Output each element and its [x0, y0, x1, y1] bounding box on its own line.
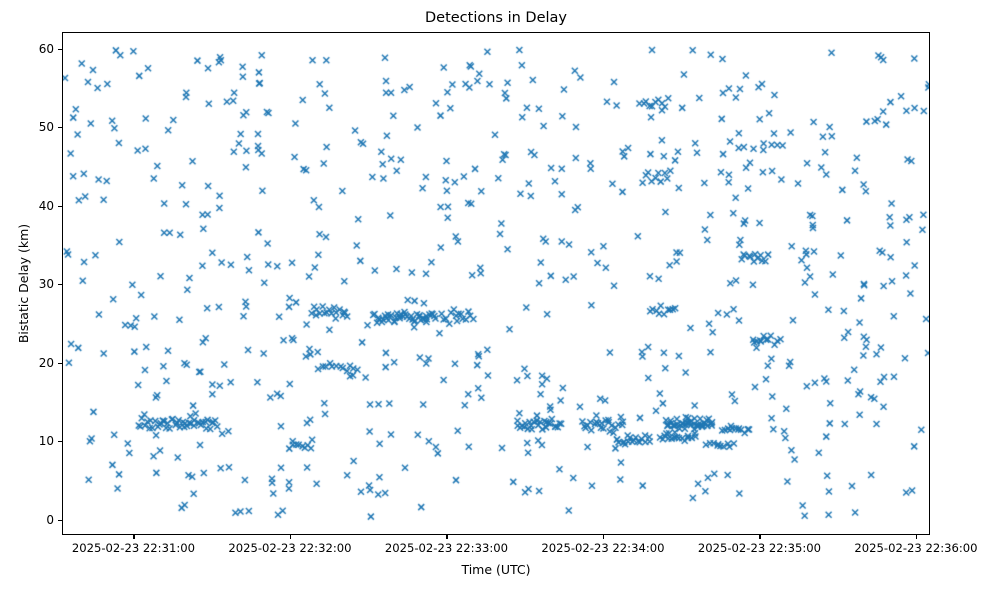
y-tick-mark: [58, 284, 62, 285]
x-axis-tick-labels: 2025-02-23 22:31:002025-02-23 22:32:0020…: [0, 541, 987, 561]
x-tick-mark: [603, 535, 604, 539]
x-tick-label: 2025-02-23 22:33:00: [361, 541, 531, 555]
y-tick-mark: [58, 49, 62, 50]
y-tick-label: 50: [14, 121, 54, 133]
plot-area: [62, 32, 930, 535]
scatter-series: [63, 33, 929, 534]
y-tick-mark: [58, 520, 62, 521]
y-tick-mark: [58, 127, 62, 128]
y-tick-label: 30: [14, 278, 54, 290]
y-tick-label: 0: [14, 514, 54, 526]
y-tick-mark: [58, 441, 62, 442]
x-axis-label: Time (UTC): [62, 562, 930, 577]
y-tick-mark: [58, 363, 62, 364]
x-tick-label: 2025-02-23 22:31:00: [48, 541, 218, 555]
x-tick-mark: [759, 535, 760, 539]
matplotlib-figure: Detections in Delay Bistatic Delay (km) …: [0, 0, 987, 590]
y-tick-mark: [58, 206, 62, 207]
x-tick-mark: [446, 535, 447, 539]
y-tick-label: 20: [14, 357, 54, 369]
x-tick-mark: [133, 535, 134, 539]
x-tick-label: 2025-02-23 22:35:00: [674, 541, 844, 555]
y-tick-label: 10: [14, 435, 54, 447]
x-tick-mark: [916, 535, 917, 539]
chart-title: Detections in Delay: [62, 8, 930, 28]
x-tick-mark: [290, 535, 291, 539]
y-tick-label: 60: [14, 43, 54, 55]
x-tick-label: 2025-02-23 22:32:00: [205, 541, 375, 555]
y-tick-label: 40: [14, 200, 54, 212]
x-tick-label: 2025-02-23 22:34:00: [518, 541, 688, 555]
y-axis-tick-labels: 0102030405060: [10, 0, 54, 590]
x-tick-label: 2025-02-23 22:36:00: [831, 541, 987, 555]
